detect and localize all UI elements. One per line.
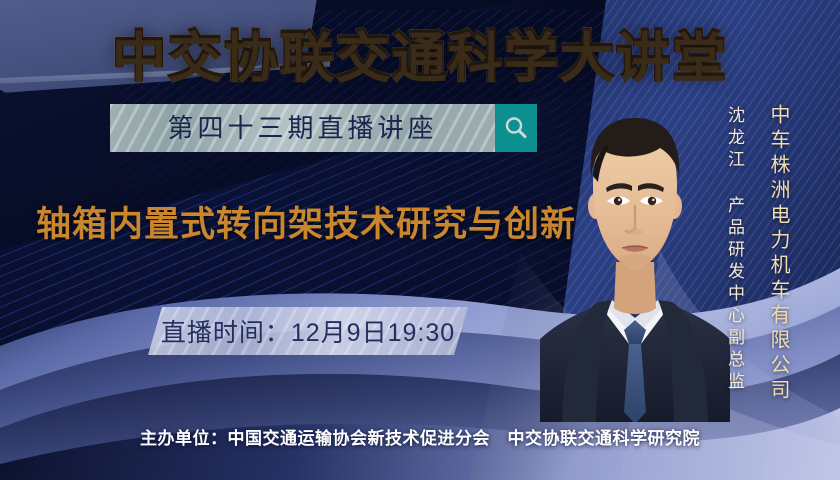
episode-banner: 第四十三期直播讲座 [110,104,537,152]
speaker-portrait [540,102,730,422]
search-button[interactable] [495,104,537,152]
page-title-text: 中交协联交通科学大讲堂 [112,27,728,87]
organizer-footer: 主办单位：中国交通运输协会新技术促进分会 中交协联交通科学研究院 [0,424,840,449]
episode-label: 第四十三期直播讲座 [110,104,495,152]
episode-banner-bar: 第四十三期直播讲座 [110,104,495,152]
poster-canvas: 中交协联交通科学大讲堂 第四十三期直播讲座 轴箱内置式转向架技术研究与创新 直播… [0,0,840,480]
lecture-title: 轴箱内置式转向架技术研究与创新 [36,196,576,247]
live-time-text: 直播时间：12月9日19:30 [161,313,455,349]
speaker-company: 中车株洲电力机车有限公司 [764,104,793,404]
search-icon [503,115,529,141]
page-title: 中交协联交通科学大讲堂 [0,12,840,91]
speaker-name-and-role: 沈龙江 产品研发中心副总监 [722,106,747,394]
live-time-badge: 直播时间：12月9日19:30 [148,307,468,355]
